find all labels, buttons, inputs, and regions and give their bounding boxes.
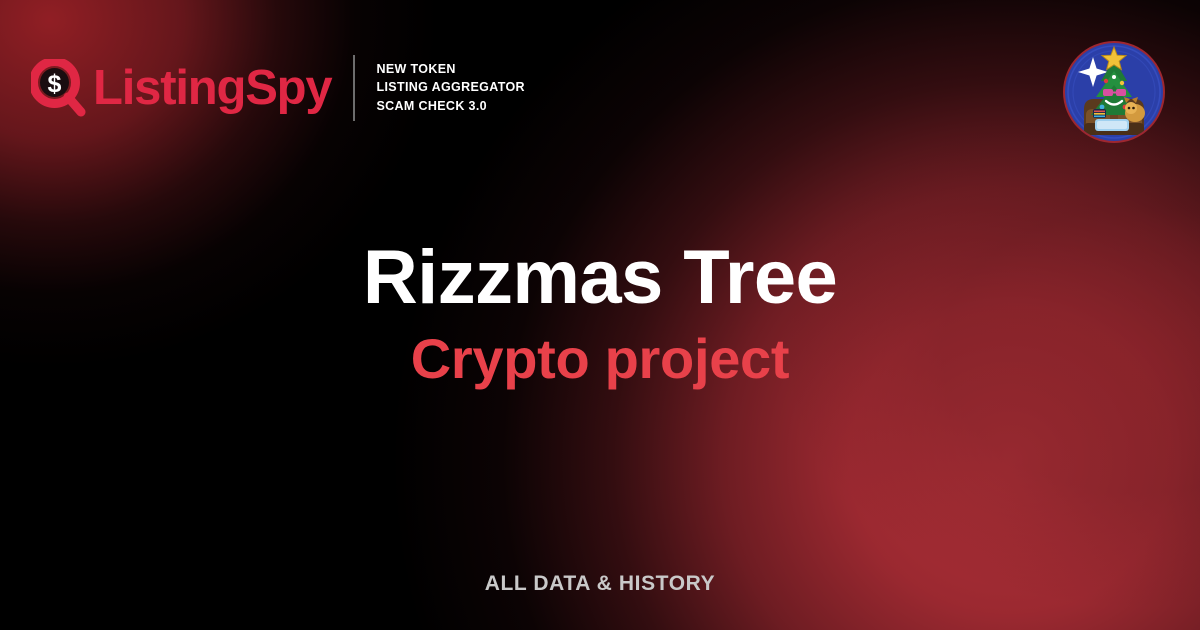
listingspy-project-banner: $ ListingSpy NEW TOKEN LISTING AGGREGATO… [0,0,1200,630]
page-subtitle: Crypto project [363,328,837,390]
hero-text-block: Rizzmas Tree Crypto project [363,238,837,390]
page-title: Rizzmas Tree [363,238,837,319]
footer-caption: ALL DATA & HISTORY [485,572,716,596]
banner-footer: ALL DATA & HISTORY [0,572,1200,596]
hero-section: Rizzmas Tree Crypto project [0,0,1200,630]
